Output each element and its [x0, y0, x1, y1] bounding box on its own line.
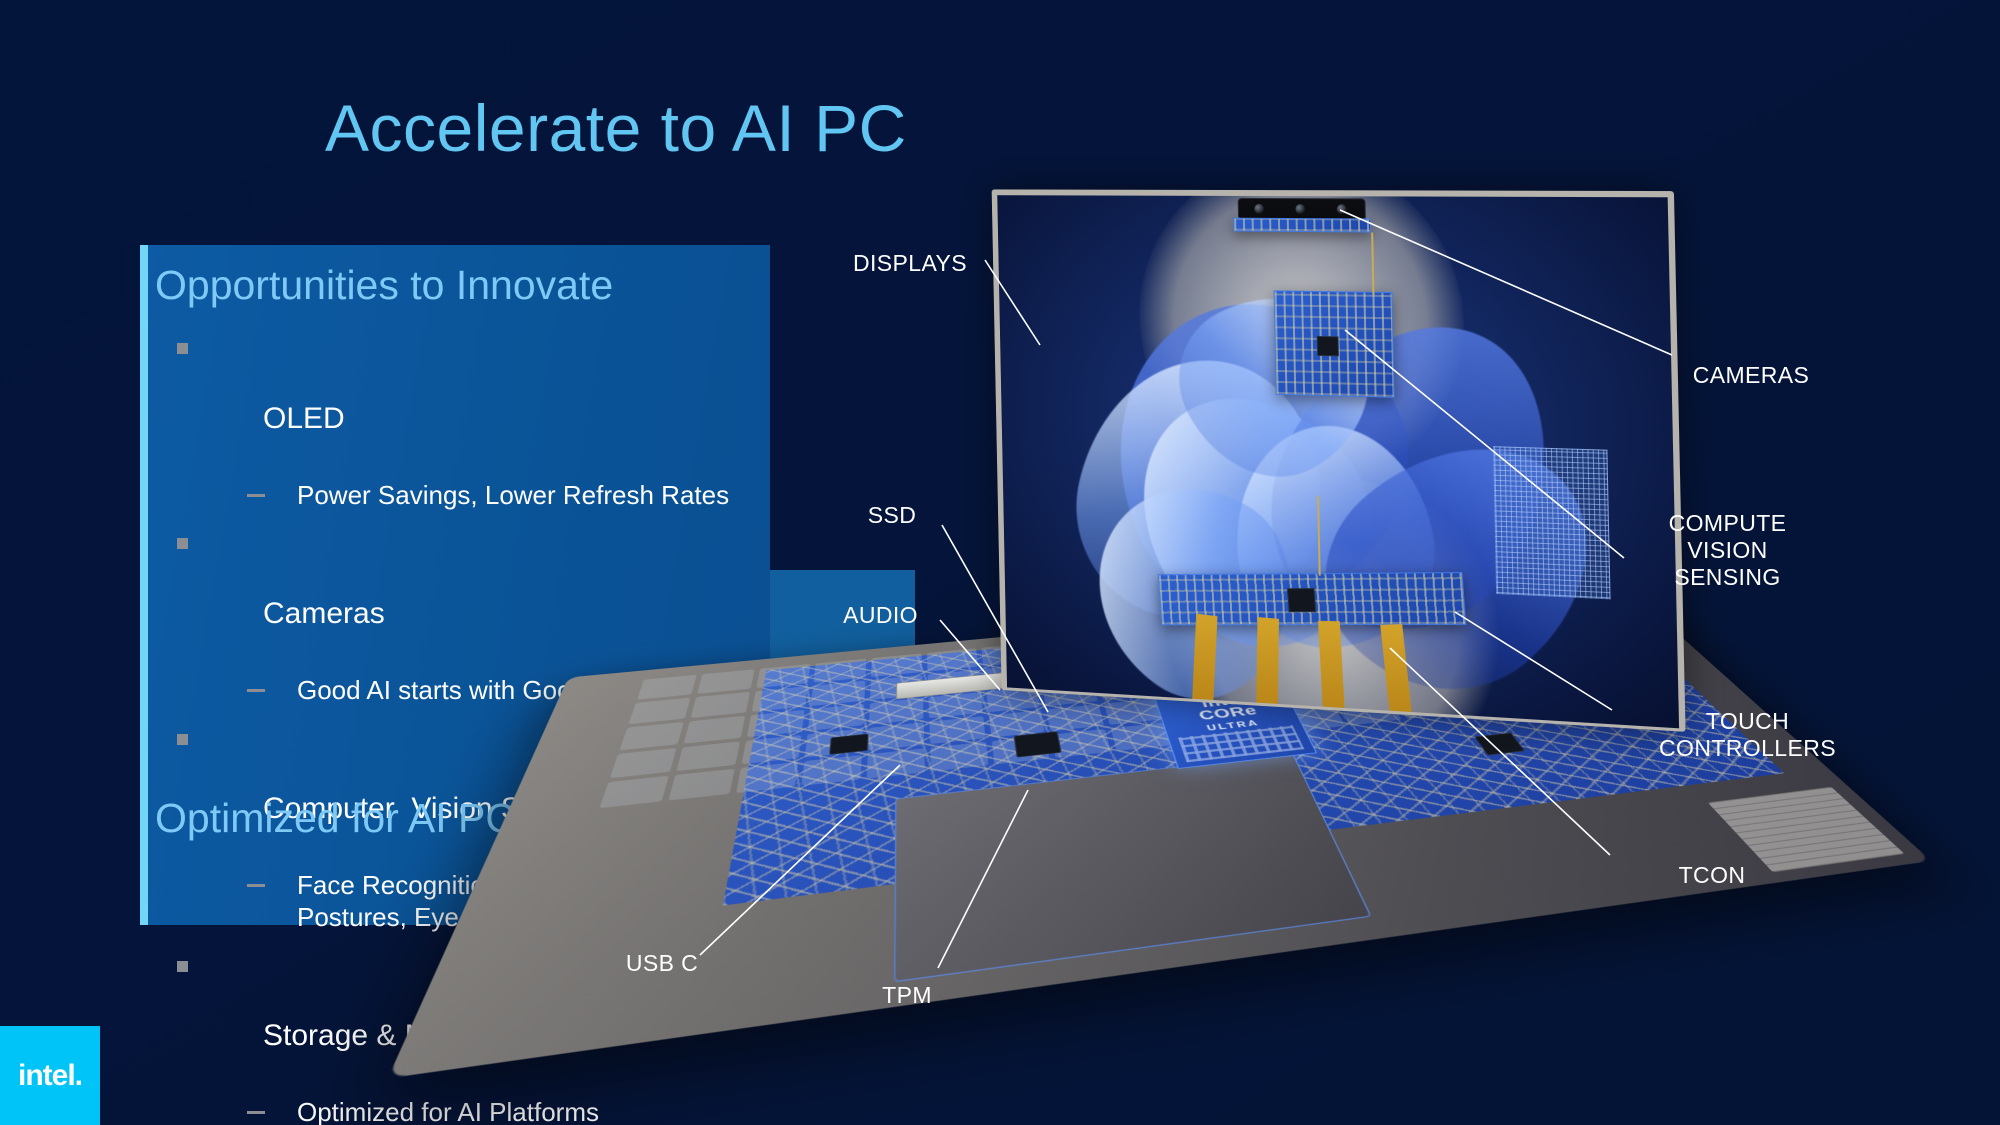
callout-usb-c: USB C: [612, 950, 712, 977]
intel-logo: intel.: [0, 1026, 100, 1125]
leader-tpm: [938, 790, 1028, 968]
leader-compute-vision: [1345, 330, 1624, 558]
leader-tcon: [1390, 648, 1610, 855]
slide-canvas: Accelerate to AI PC Opportunities to Inn…: [0, 0, 2000, 1125]
leader-usb-c: [700, 765, 900, 955]
leader-touch-controllers: [1455, 612, 1612, 710]
callout-ssd: SSD: [862, 502, 922, 529]
leader-audio: [940, 620, 1000, 690]
leader-cameras: [1340, 210, 1672, 355]
leader-displays: [985, 260, 1040, 345]
callout-audio: AUDIO: [833, 602, 928, 629]
callout-tpm: TPM: [872, 982, 942, 1009]
callout-touch-controllers: TOUCH CONTROLLERS: [1645, 708, 1850, 762]
callout-tcon: TCON: [1672, 862, 1752, 889]
callout-cameras: CAMERAS: [1686, 362, 1816, 389]
intel-wordmark: intel.: [18, 1059, 82, 1093]
callout-displays: DISPLAYS: [845, 250, 975, 277]
callout-compute-vision: COMPUTE VISION SENSING: [1655, 510, 1800, 591]
